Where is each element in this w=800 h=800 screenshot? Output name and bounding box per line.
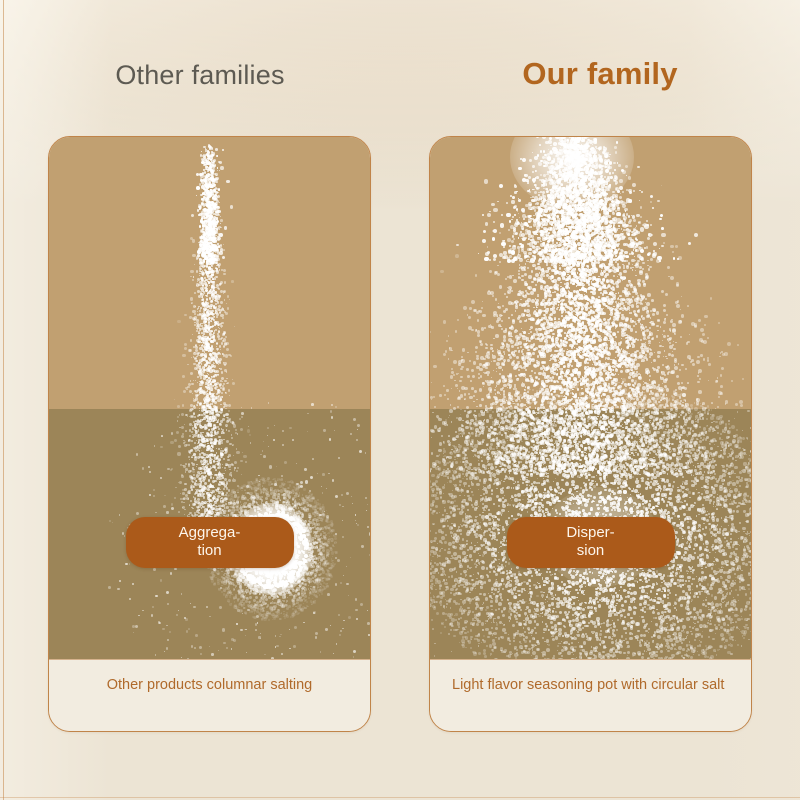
- page-frame-left-rule: [3, 0, 4, 800]
- title-our-family: Our family: [400, 56, 800, 92]
- card-our-family[interactable]: Disper- sion Light flavor seasoning pot …: [429, 136, 752, 732]
- stage-dispersion: [430, 137, 751, 661]
- comparison-infographic: Other families Our family Aggrega- tion …: [0, 0, 800, 800]
- salt-particles-dispersion: [430, 137, 751, 661]
- card-other-families[interactable]: Aggrega- tion Other products columnar sa…: [48, 136, 371, 732]
- stage-aggregation: [49, 137, 370, 661]
- heading-cell-left: Other families: [0, 60, 400, 96]
- badge-aggregation: Aggrega- tion: [126, 517, 294, 568]
- badge-dispersion: Disper- sion: [507, 517, 675, 568]
- cards-row: Aggrega- tion Other products columnar sa…: [48, 136, 752, 732]
- caption-left: Other products columnar salting: [49, 659, 370, 731]
- heading-cell-right: Our family: [400, 60, 800, 96]
- page-frame-bottom-rule: [0, 797, 800, 798]
- salt-particles-aggregation: [49, 137, 370, 661]
- caption-right: Light flavor seasoning pot with circular…: [430, 659, 751, 731]
- caption-text-left: Other products columnar salting: [107, 675, 313, 696]
- caption-text-right: Light flavor seasoning pot with circular…: [452, 675, 724, 696]
- headings-row: Other families Our family: [0, 60, 800, 96]
- title-other-families: Other families: [0, 60, 400, 91]
